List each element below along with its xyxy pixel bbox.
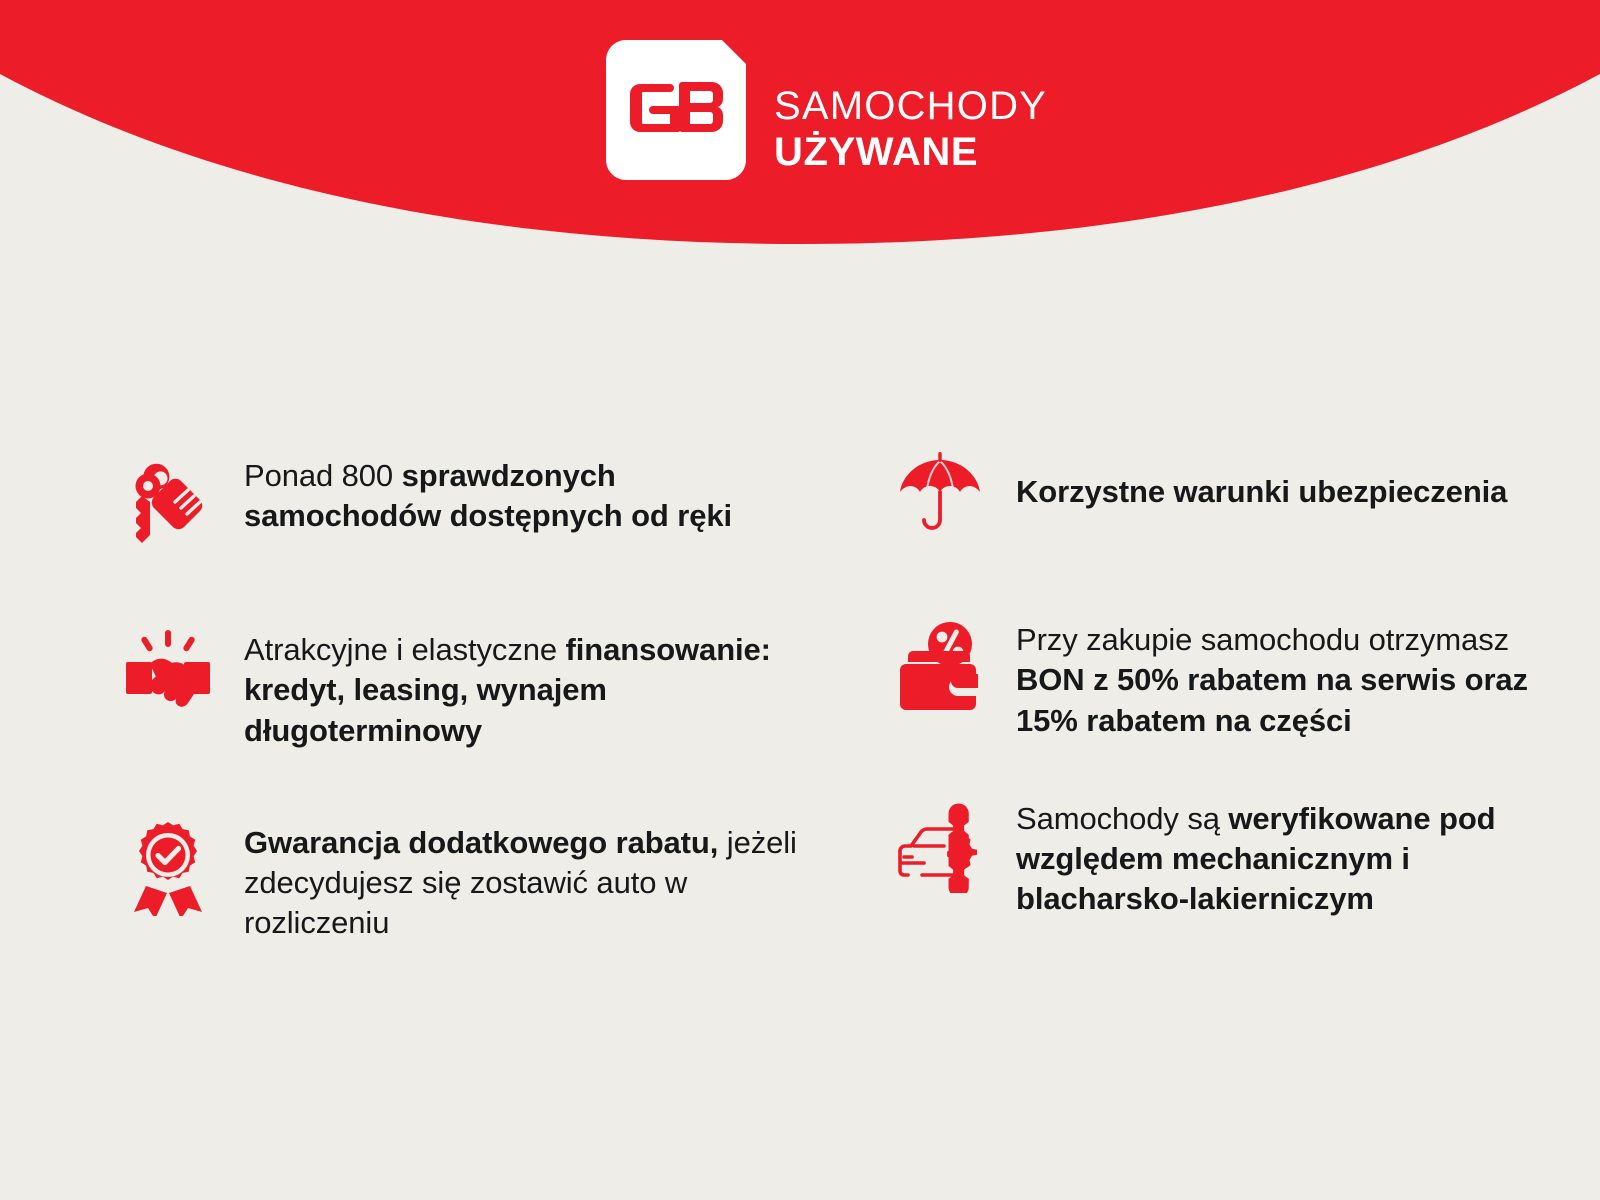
feature-text: Ponad 800 sprawdzonych samochodów dostęp… [244,452,804,537]
feature-item: Gwarancja dodatkowego rabatu, jeżeli zde… [120,819,840,944]
award-badge-icon [120,819,216,915]
feature-text: Przy zakupie samochodu otrzymasz BON z 5… [1016,618,1556,741]
umbrella-icon [892,446,988,542]
feature-item: Ponad 800 sprawdzonych samochodów dostęp… [120,452,840,548]
feature-lead: Atrakcyjne i elastyczne [244,632,566,667]
feature-strong: Korzystne warunki ubezpieczenia [1016,474,1507,509]
feature-text: Samochody są weryfikowane pod względem m… [1016,797,1556,920]
feature-grid: Ponad 800 sprawdzonych samochodów dostęp… [0,440,1600,944]
feature-text: Gwarancja dodatkowego rabatu, jeżeli zde… [244,819,804,944]
feature-item: Przy zakupie samochodu otrzymasz BON z 5… [880,618,1600,741]
feature-item: Atrakcyjne i elastyczne finansowanie: kr… [120,622,840,751]
car-key-icon [120,452,216,548]
feature-column-left: Ponad 800 sprawdzonych samochodów dostęp… [120,440,840,944]
brand-line-1: SAMOCHODY [774,86,1047,126]
handshake-icon [120,622,216,718]
car-service-icon [892,797,988,893]
feature-lead: Przy zakupie samochodu otrzymasz [1016,622,1509,657]
feature-item: Samochody są weryfikowane pod względem m… [880,797,1600,920]
feature-column-right: Korzystne warunki ubezpieczenia [880,440,1600,944]
feature-text: Atrakcyjne i elastyczne finansowanie: kr… [244,622,804,751]
feature-text: Korzystne warunki ubezpieczenia [1016,446,1507,512]
brand-lockup: SAMOCHODY UŻYWANE [600,34,1047,186]
gb-logo-icon [600,34,752,186]
feature-lead: Ponad 800 [244,458,402,493]
feature-item: Korzystne warunki ubezpieczenia [880,446,1600,542]
feature-strong: BON z 50% rabatem na serwis oraz 15% rab… [1016,662,1528,737]
brand-line-2: UŻYWANE [774,132,1047,172]
wallet-discount-icon [892,618,988,714]
feature-strong: Gwarancja dodatkowego rabatu, [244,825,718,860]
feature-lead: Samochody są [1016,801,1228,836]
brand-text: SAMOCHODY UŻYWANE [774,48,1047,172]
